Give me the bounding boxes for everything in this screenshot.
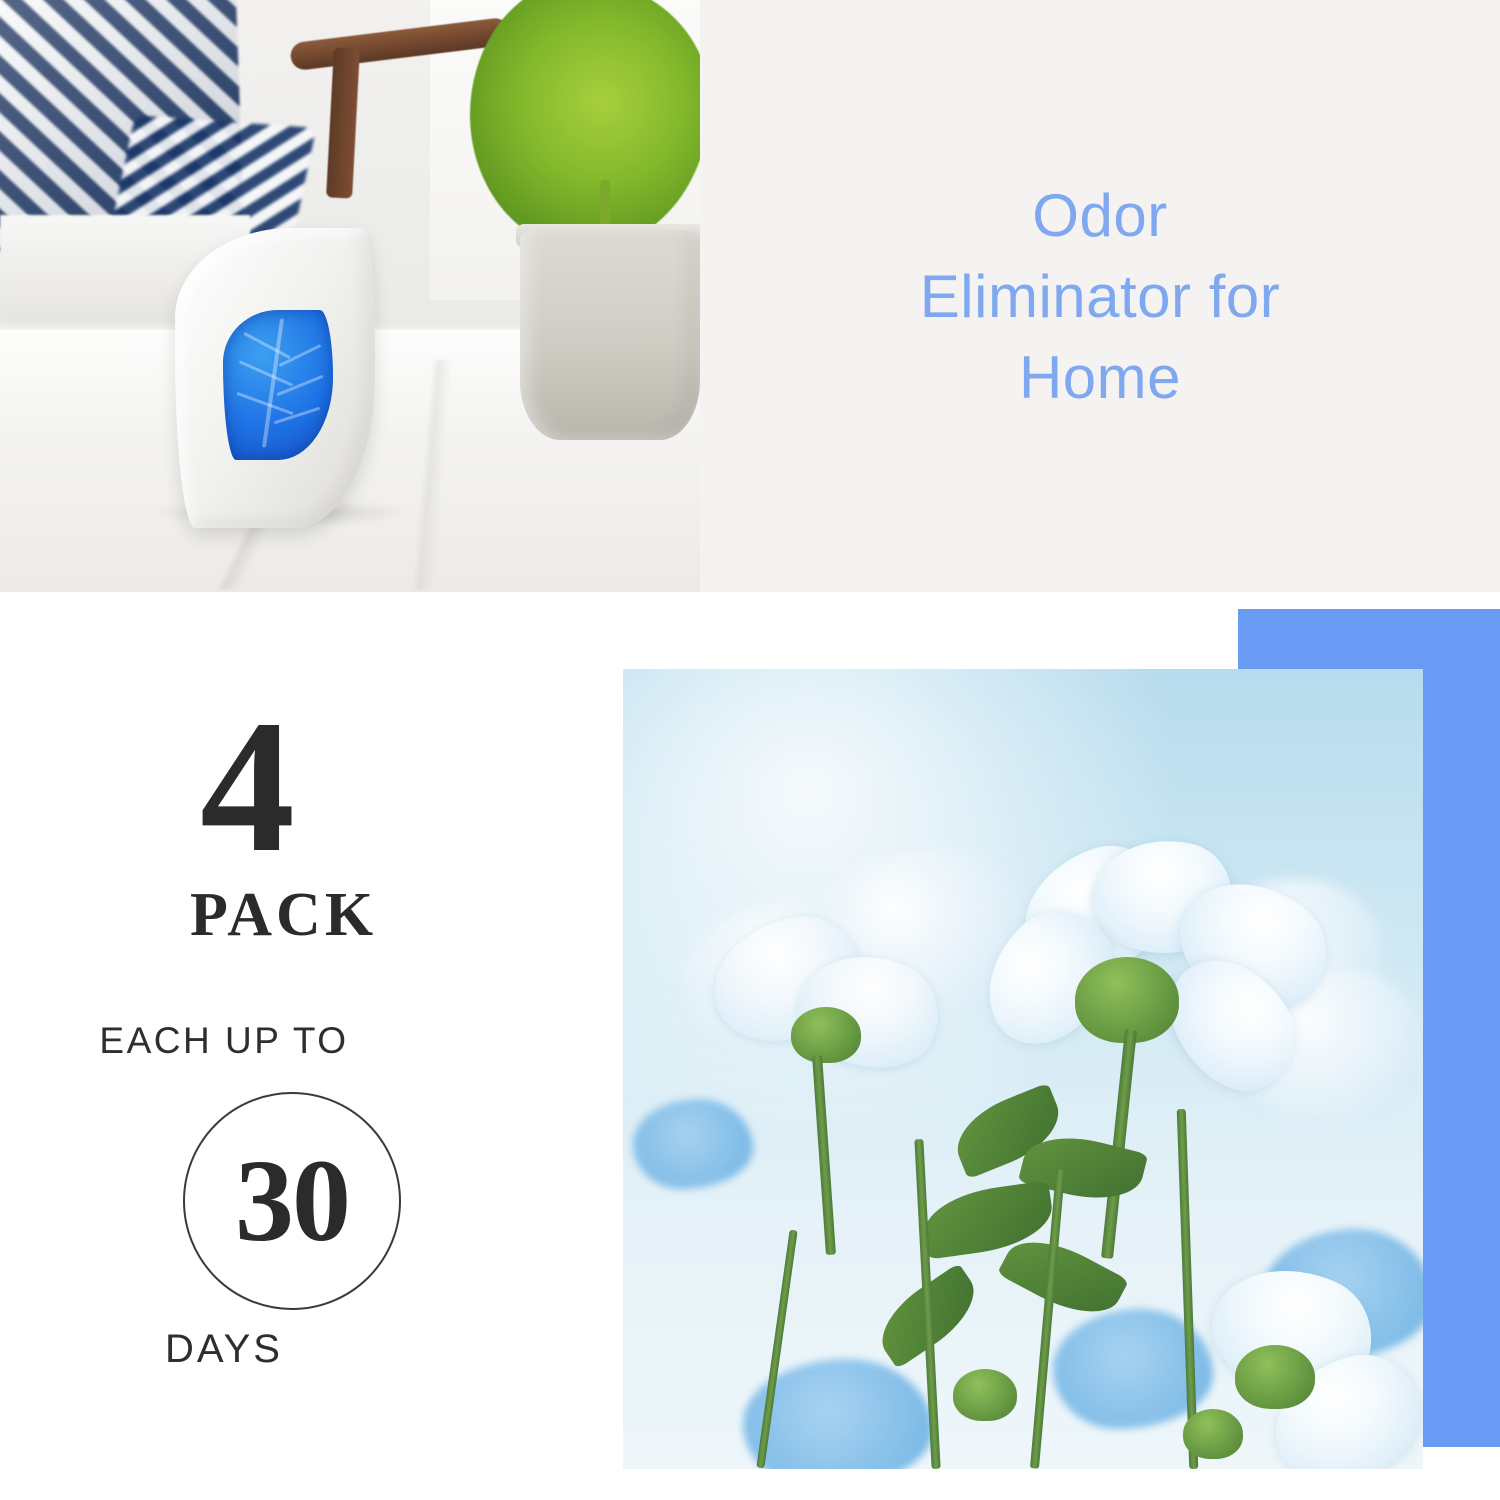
room-photo (0, 0, 700, 592)
feature-text-block: 4 PACK EACH UP TO 30 DAYS (0, 592, 620, 1500)
top-banner: Odor Eliminator for Home (0, 0, 1500, 592)
leaf-vein-center (262, 318, 284, 447)
bud-2 (1183, 1409, 1243, 1459)
page-title: Odor Eliminator for Home (780, 175, 1420, 418)
pack-label: PACK (190, 880, 377, 951)
leaf-vein-1 (243, 332, 290, 359)
pack-count: 4 (200, 692, 295, 882)
duration-unit: DAYS (0, 1327, 620, 1372)
concrete-plant-pot (520, 230, 700, 440)
duration-circle: 30 (183, 1092, 401, 1310)
duration-prefix: EACH UP TO (0, 1020, 620, 1062)
background-blue-petal-1 (633, 1099, 753, 1189)
leaf-vein-3 (236, 392, 293, 415)
headline-panel: Odor Eliminator for Home (700, 0, 1500, 592)
headline-line-1: Odor (780, 175, 1420, 256)
lower-section: 4 PACK EACH UP TO 30 DAYS (0, 592, 1500, 1500)
headline-line-2: Eliminator for (780, 256, 1420, 337)
duration-value: 30 (235, 1142, 349, 1260)
leaf-vein-5 (276, 375, 323, 397)
left-flower-center (791, 1007, 861, 1063)
right-flower-center (1235, 1345, 1315, 1409)
flower-photo (623, 669, 1423, 1469)
air-freshener-device (175, 228, 375, 528)
headline-line-3: Home (780, 337, 1420, 418)
bud-1 (953, 1369, 1017, 1421)
